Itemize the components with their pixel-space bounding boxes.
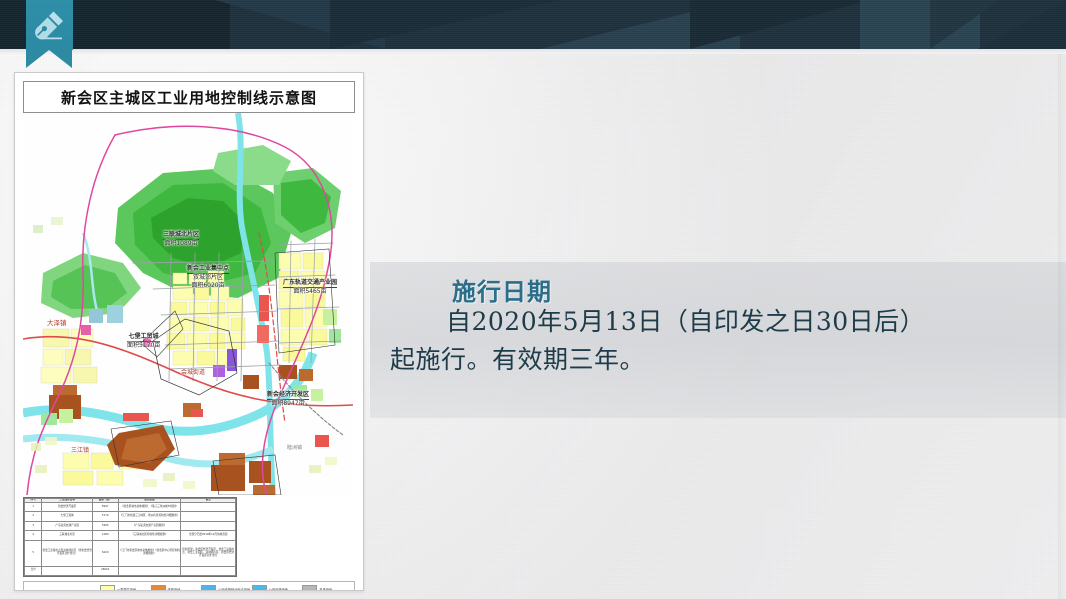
map-legend-strip: N 0 500 1000 2000 3000m: [23, 581, 355, 591]
legend-item: 体育用地: [151, 585, 201, 591]
compass-and-scale: N 0 500 1000 2000 3000m: [24, 582, 86, 591]
map-drawing: [23, 113, 353, 495]
legend-swatch: [252, 585, 267, 591]
table-cell: 6020: [92, 540, 118, 566]
table-cell: 5: [25, 540, 42, 566]
map-canvas: [23, 113, 353, 495]
body-line-1: 自2020年5月13日（自印发之日30日后）: [446, 307, 925, 336]
legend-item: 公用设施营业网点用地: [201, 585, 251, 591]
table-row: 3 广东轨道交通产业园 5465 《广东轨道交通产业园规划》: [25, 521, 236, 530]
table-cell: 《江门市新建三江地区、睦洲片区控制性详细规划》: [118, 512, 181, 521]
legend-label: 公用设施用地: [269, 587, 288, 592]
legend-column-3: 公用设施营业网点用地 其他服务设施用地 物流仓储用地 公园绿地 防护绿地 广场用…: [201, 585, 251, 591]
table-cell: 合计: [25, 566, 42, 575]
table-cell: 三联城北片区: [42, 531, 92, 540]
header-facet-2: [215, 0, 385, 49]
section-heading: 施行日期: [452, 272, 552, 307]
table-cell: 含部分已批2019年12月用地范围: [181, 531, 236, 540]
table-row: 5 新会工业集中点及双城郊片区（含新会经济开发区北扩部分） 6020 《江门市新…: [25, 540, 236, 566]
section-body: 自2020年5月13日（自印发之日30日后） 起施行。有效期三年。: [390, 303, 1030, 379]
table-cell: 《广东轨道交通产业园规划》: [118, 521, 181, 530]
table-cell: 4: [25, 531, 42, 540]
table-cell: 5170: [92, 512, 118, 521]
header-facet-5: [690, 0, 870, 49]
table-cell: 《三联城北区控制性详细规划》: [118, 531, 181, 540]
table-cell: 1: [25, 502, 42, 511]
table-cell: 3: [25, 521, 42, 530]
header-underline: [0, 49, 1066, 54]
table-cell: 新会经济开发区: [42, 502, 92, 511]
legend-columns: 一类居住用地 二类居住用地 一类工业用地 二类工业用地 行政办公用地 文化设施用…: [100, 582, 354, 591]
map-title: 新会区主城区工业用地控制线示意图: [61, 87, 317, 108]
header-facet-8: [930, 0, 1000, 49]
legend-item: 一类居住用地: [100, 585, 150, 591]
page-seam: [1058, 54, 1066, 599]
map-title-box: 新会区主城区工业用地控制线示意图: [23, 81, 355, 113]
table-cell: 1089: [92, 531, 118, 540]
industrial-park-table[interactable]: 序号 工业园区名称 面积（亩） 规划依据 备注 1 新会经济开发区 8947 《…: [23, 497, 237, 577]
legend-item: 机场用地: [302, 585, 352, 591]
table-cell: [118, 566, 181, 575]
table-row: 2 七堡工贸城 5170 《江门市新建三江地区、睦洲片区控制性详细规划》: [25, 512, 236, 521]
table-cell: 8947: [92, 502, 118, 511]
logo-ribbon: [26, 0, 73, 50]
legend-column-4: 公用设施用地 水库用地 村镇建设用地 区域交通设施用地 特殊用地 主城区边界 高…: [252, 585, 302, 591]
table-row: 1 新会经济开发区 8947 《新会区城市总体规划》、《珠江三角洲城乡规划》: [25, 502, 236, 511]
table-cell: [181, 502, 236, 511]
legend-label: 体育用地: [168, 587, 181, 592]
legend-title: 图例: [86, 582, 100, 591]
legend-swatch: [100, 585, 115, 591]
legend-label: 一类居住用地: [117, 587, 136, 592]
legend-label: 机场用地: [319, 587, 332, 592]
table-cell: 《新会区城市总体规划》、《珠江三角洲城乡规划》: [118, 502, 181, 511]
header-facet-7: [978, 0, 1066, 49]
legend-label: 公用设施营业网点用地: [218, 587, 250, 592]
table-cell: 广东轨道交通产业园: [42, 521, 92, 530]
legend-swatch: [302, 585, 317, 591]
table-cell: 5465: [92, 521, 118, 530]
legend-swatch: [201, 585, 216, 591]
header-facet-4: [540, 0, 740, 49]
table-cell: [181, 512, 236, 521]
legend-swatch: [151, 585, 166, 591]
legend-item: 公用设施用地: [252, 585, 302, 591]
pen-nib-icon: [34, 10, 65, 40]
header-facet-3: [330, 0, 560, 49]
logo-ribbon-tail: [26, 50, 72, 68]
table-cell: [181, 521, 236, 530]
legend-column-5: 机场用地 轨道交通用地 水系 山体 公用用地 工业区出入口: [302, 585, 352, 591]
table-cell: 2: [25, 512, 42, 521]
table-cell: 《江门市新会区城市总体规划》《新会区中心区控制性详细规划》: [118, 540, 181, 566]
table-cell: [42, 566, 92, 575]
table-row: 4 三联城北片区 1089 《三联城北区控制性详细规划》 含部分已批2019年1…: [25, 531, 236, 540]
table-cell: [181, 566, 236, 575]
table-cell: 七堡工贸城: [42, 512, 92, 521]
header-band: [0, 0, 1066, 49]
map-image-card[interactable]: 新会区主城区工业用地控制线示意图: [14, 72, 364, 591]
table-total-row: 合计 26691: [25, 566, 236, 575]
legend-column-2: 体育用地 体育设施用地 医疗卫生用地 社会福利用地 文物古迹用地 商业服务设施用…: [151, 585, 201, 591]
table-cell: 新会工业集中点及双城郊片区（含新会经济开发区北扩部分）: [42, 540, 92, 566]
body-line-2: 起施行。有效期三年。: [390, 345, 645, 374]
header-facet-6: [860, 0, 980, 49]
table-cell: 26691: [92, 566, 118, 575]
compass-rose-icon: N 0 500 1000 2000 3000m: [27, 590, 83, 591]
table-cell: 控制范围：新会区经济开发区、新会工业集中点、新会工业园区、双城郊片区、新会区经济…: [181, 540, 236, 566]
legend-column-1: 一类居住用地 二类居住用地 一类工业用地 二类工业用地 行政办公用地 文化设施用…: [100, 585, 150, 591]
